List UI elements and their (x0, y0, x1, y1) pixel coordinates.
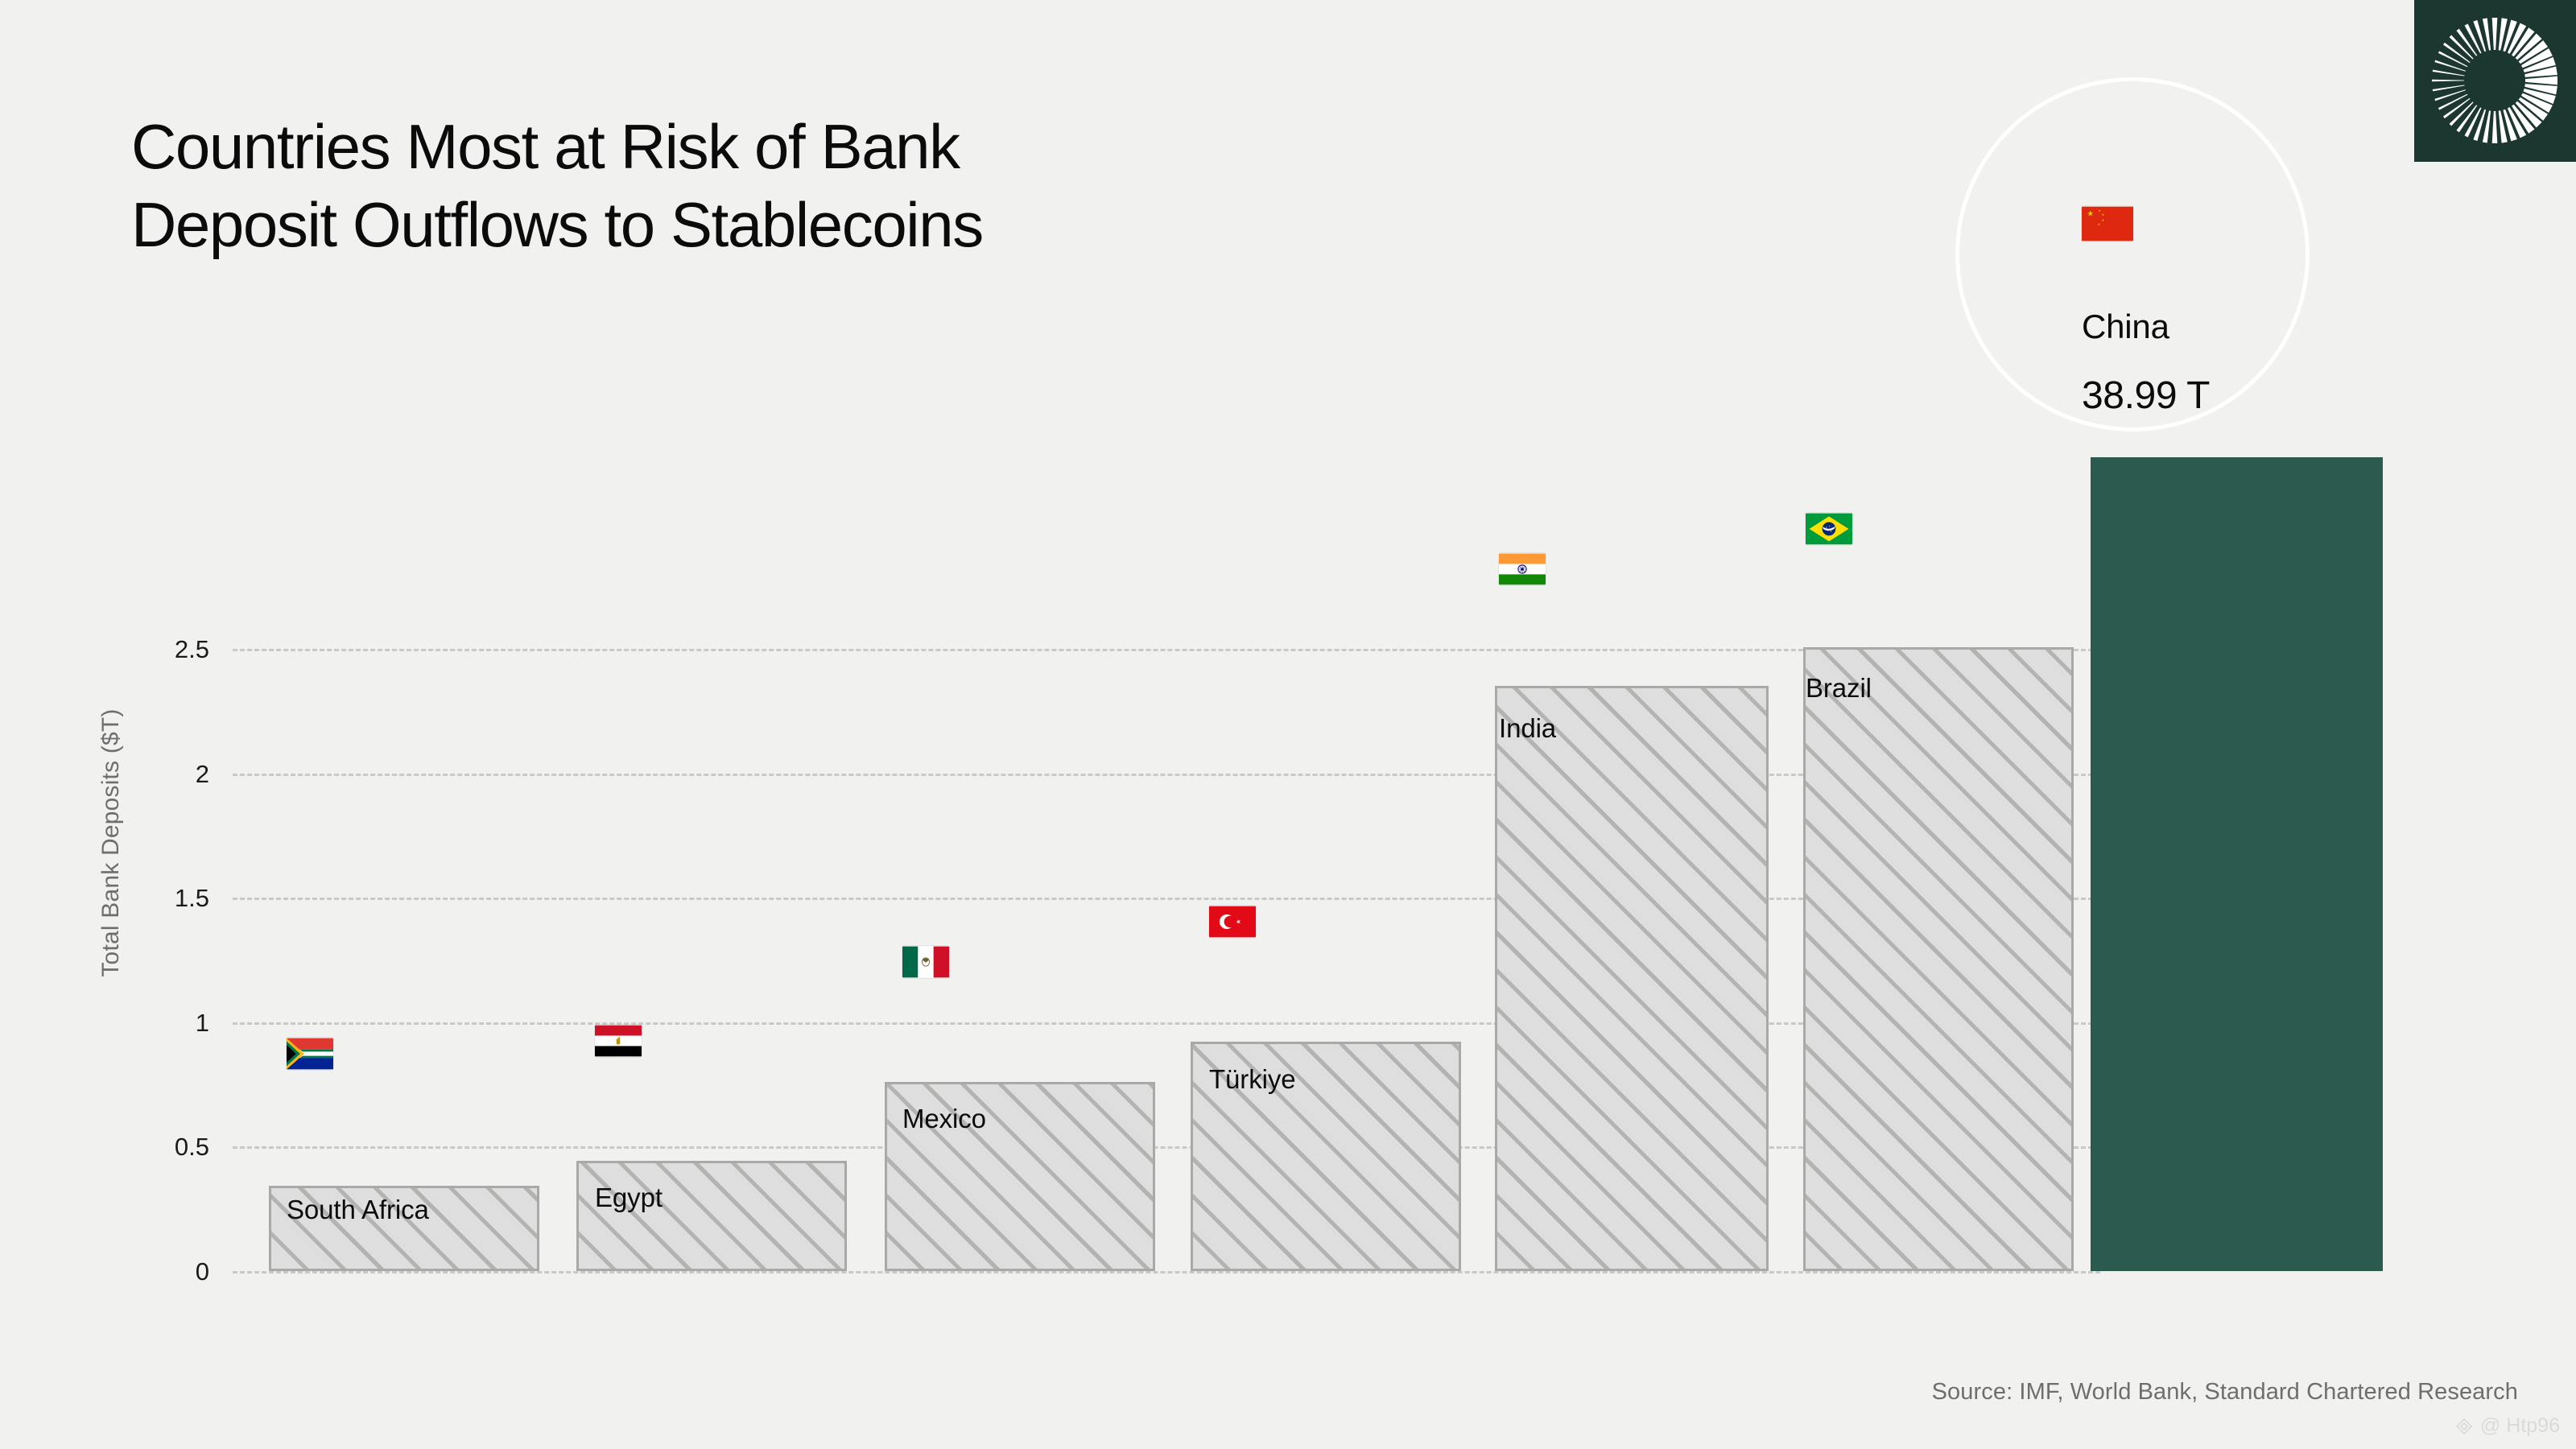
diamond-logo-icon (2454, 1416, 2475, 1437)
plot-area: 00.511.522.5 South Africa Egypt Mexico T… (0, 0, 2576, 1449)
y-axis-tick-label: 1.5 (48, 884, 209, 913)
flag-mexico-icon (902, 946, 949, 978)
sunburst-logo-icon (2414, 0, 2576, 162)
bar-egypt[interactable] (576, 1161, 847, 1271)
y-axis-tick-label: 2 (48, 760, 209, 789)
source-note: Source: IMF, World Bank, Standard Charte… (1932, 1379, 2518, 1406)
category-label: Mexico (902, 1104, 986, 1134)
flag-south-africa-icon (287, 1038, 333, 1070)
y-axis-tick-label: 1 (48, 1009, 209, 1038)
gridline (233, 1271, 2100, 1274)
y-axis-tick-label: 2.5 (48, 635, 209, 664)
bar-brazil[interactable] (1803, 647, 2074, 1271)
category-label: Türkiye (1209, 1064, 1296, 1095)
bar-china[interactable] (2091, 457, 2383, 1271)
y-axis-tick-label: 0 (48, 1257, 209, 1286)
flag-turkiye-icon (1209, 906, 1256, 938)
flag-egypt-icon (595, 1025, 642, 1057)
category-label: Brazil (1806, 673, 1872, 704)
chart-canvas: Countries Most at Risk of Bank Deposit O… (0, 0, 2576, 1449)
flag-brazil-icon (1806, 513, 1852, 545)
watermark-text: @ Htp96 (2480, 1414, 2560, 1438)
flag-india-icon (1499, 553, 1546, 585)
category-label: Egypt (595, 1183, 663, 1213)
category-label: South Africa (287, 1195, 429, 1225)
category-label: India (1499, 713, 1556, 744)
callout-value-label: 38.99 T (2082, 374, 2210, 418)
bar-india[interactable] (1495, 686, 1769, 1271)
flag-china-icon (2082, 206, 2133, 242)
watermark: @ Htp96 (2454, 1414, 2560, 1438)
callout-country-label: China (2082, 308, 2169, 346)
y-axis-tick-label: 0.5 (48, 1133, 209, 1162)
